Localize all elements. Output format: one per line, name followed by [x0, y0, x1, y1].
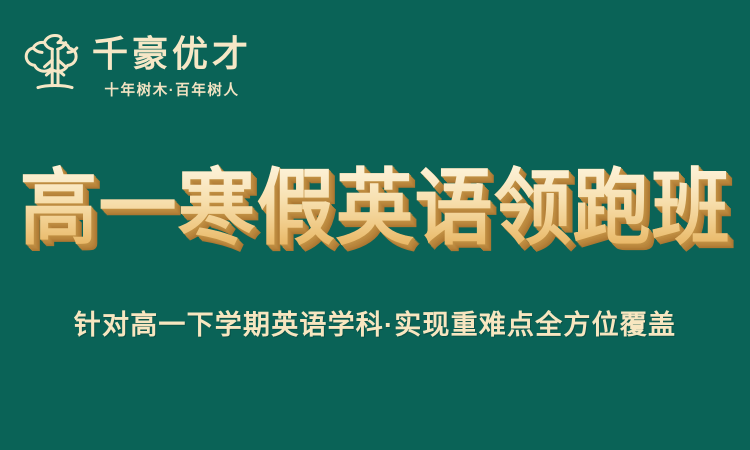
brand-lockup: 千豪优才 十年树木·百年树人 — [24, 26, 252, 102]
brand-name: 千豪优才 — [92, 34, 252, 74]
headline-container: 高一寒假英语领跑班 高一寒假英语领跑班 — [0, 158, 750, 258]
headline: 高一寒假英语领跑班 高一寒假英语领跑班 — [19, 167, 730, 250]
course-promo-poster: 千豪优才 十年树木·百年树人 高一寒假英语领跑班 高一寒假英语领跑班 针对高一下… — [0, 0, 750, 450]
brand-text-block: 千豪优才 十年树木·百年树人 — [92, 26, 252, 100]
subheadline: 针对高一下学期英语学科·实现重难点全方位覆盖 — [0, 303, 750, 342]
tree-icon — [24, 26, 86, 102]
headline-face-layer: 高一寒假英语领跑班 — [19, 161, 730, 254]
brand-tagline: 十年树木·百年树人 — [104, 79, 239, 100]
